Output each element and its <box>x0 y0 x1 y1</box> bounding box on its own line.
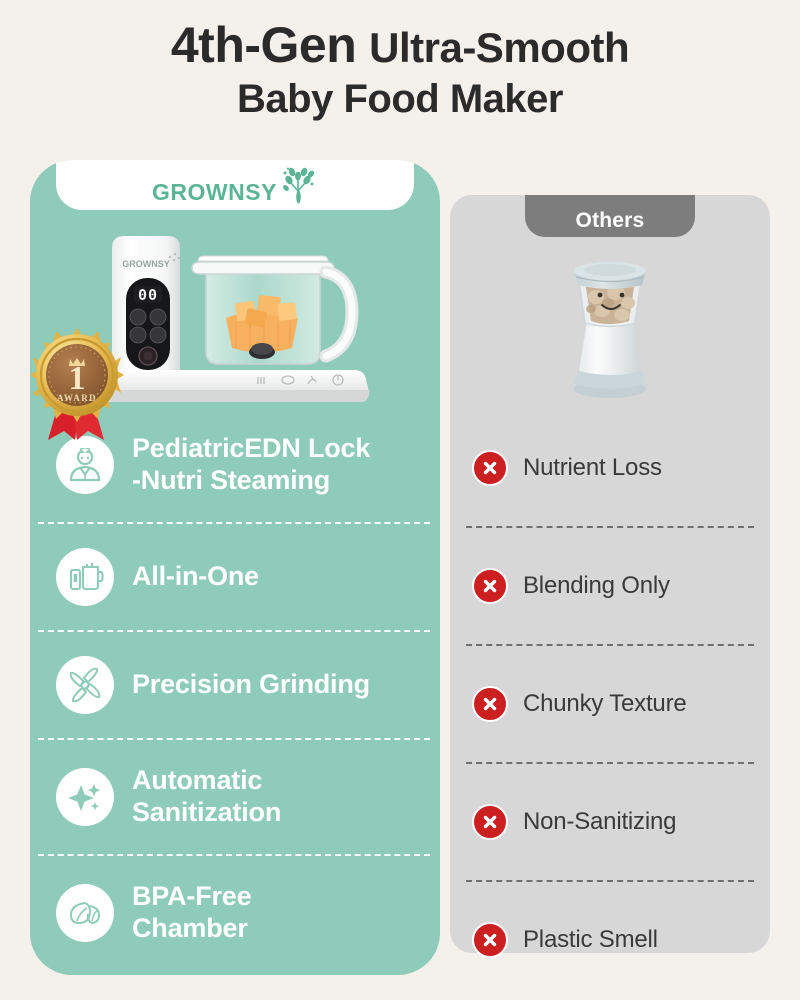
feature-label: Automatic Sanitization <box>132 765 281 829</box>
feature-row-all-in-one: All-in-One <box>30 524 440 630</box>
feature-label: BPA-Free Chamber <box>132 881 251 945</box>
drawback-row-blending-only: Blending Only <box>450 528 770 644</box>
brand-feature-list: PediatricEDN Lock -Nutri Steaming <box>30 408 440 970</box>
leaf-icon <box>56 884 114 942</box>
competitor-product-image <box>450 237 770 405</box>
cross-circle-icon <box>472 450 508 486</box>
drawback-label: Blending Only <box>523 572 670 601</box>
others-tab: Others <box>450 195 770 237</box>
others-tab-label: Others <box>576 210 645 237</box>
drawback-row-nutrient-loss: Nutrient Loss <box>450 410 770 526</box>
drawback-row-chunky-texture: Chunky Texture <box>450 646 770 762</box>
drawback-row-plastic-smell: Plastic Smell <box>450 882 770 998</box>
drawback-label: Non-Sanitizing <box>523 808 676 837</box>
drawback-label: Chunky Texture <box>523 690 687 719</box>
blade-icon <box>56 656 114 714</box>
product-comparison-infographic: 4th-Gen Ultra-Smooth Baby Food Maker GRO… <box>0 0 800 1000</box>
sparkle-icon <box>56 768 114 826</box>
comparison-section: GROWNSY <box>0 160 800 990</box>
award-badge: 1 AWARD <box>26 326 130 444</box>
award-label: AWARD <box>57 393 97 403</box>
cross-circle-icon <box>472 804 508 840</box>
drawback-label: Nutrient Loss <box>523 454 662 483</box>
others-drawback-list: Nutrient Loss Blending Only Chunky Textu… <box>450 410 770 998</box>
award-rank: 1 <box>69 360 86 397</box>
feature-row-bpa-free-chamber: BPA-Free Chamber <box>30 856 440 970</box>
title-generation: 4th-Gen <box>171 17 356 73</box>
feature-label: Precision Grinding <box>132 669 370 701</box>
all-in-one-appliance-icon <box>56 548 114 606</box>
cross-circle-icon <box>472 922 508 958</box>
feature-row-automatic-sanitization: Automatic Sanitization <box>30 740 440 854</box>
pediatrician-icon <box>56 436 114 494</box>
brand-logo-text: GROWNSY <box>152 181 277 204</box>
feature-label: PediatricEDN Lock -Nutri Steaming <box>132 433 370 497</box>
cross-circle-icon <box>472 686 508 722</box>
title-line-2: Baby Food Maker <box>0 76 800 123</box>
feature-label: All-in-One <box>132 561 259 593</box>
drawback-label: Plastic Smell <box>523 926 658 955</box>
feature-row-precision-grinding: Precision Grinding <box>30 632 440 738</box>
brand-logo-tab: GROWNSY <box>30 160 440 210</box>
title-line-1: 4th-Gen Ultra-Smooth <box>0 16 800 76</box>
product-display-value: 00 <box>138 286 158 304</box>
title-tagline: Ultra-Smooth <box>369 24 629 71</box>
page-title: 4th-Gen Ultra-Smooth Baby Food Maker <box>0 16 800 123</box>
cross-circle-icon <box>472 568 508 604</box>
tree-leaves-icon <box>278 167 318 205</box>
drawback-row-non-sanitizing: Non-Sanitizing <box>450 764 770 880</box>
svg-text:GROWNSY: GROWNSY <box>122 259 170 269</box>
